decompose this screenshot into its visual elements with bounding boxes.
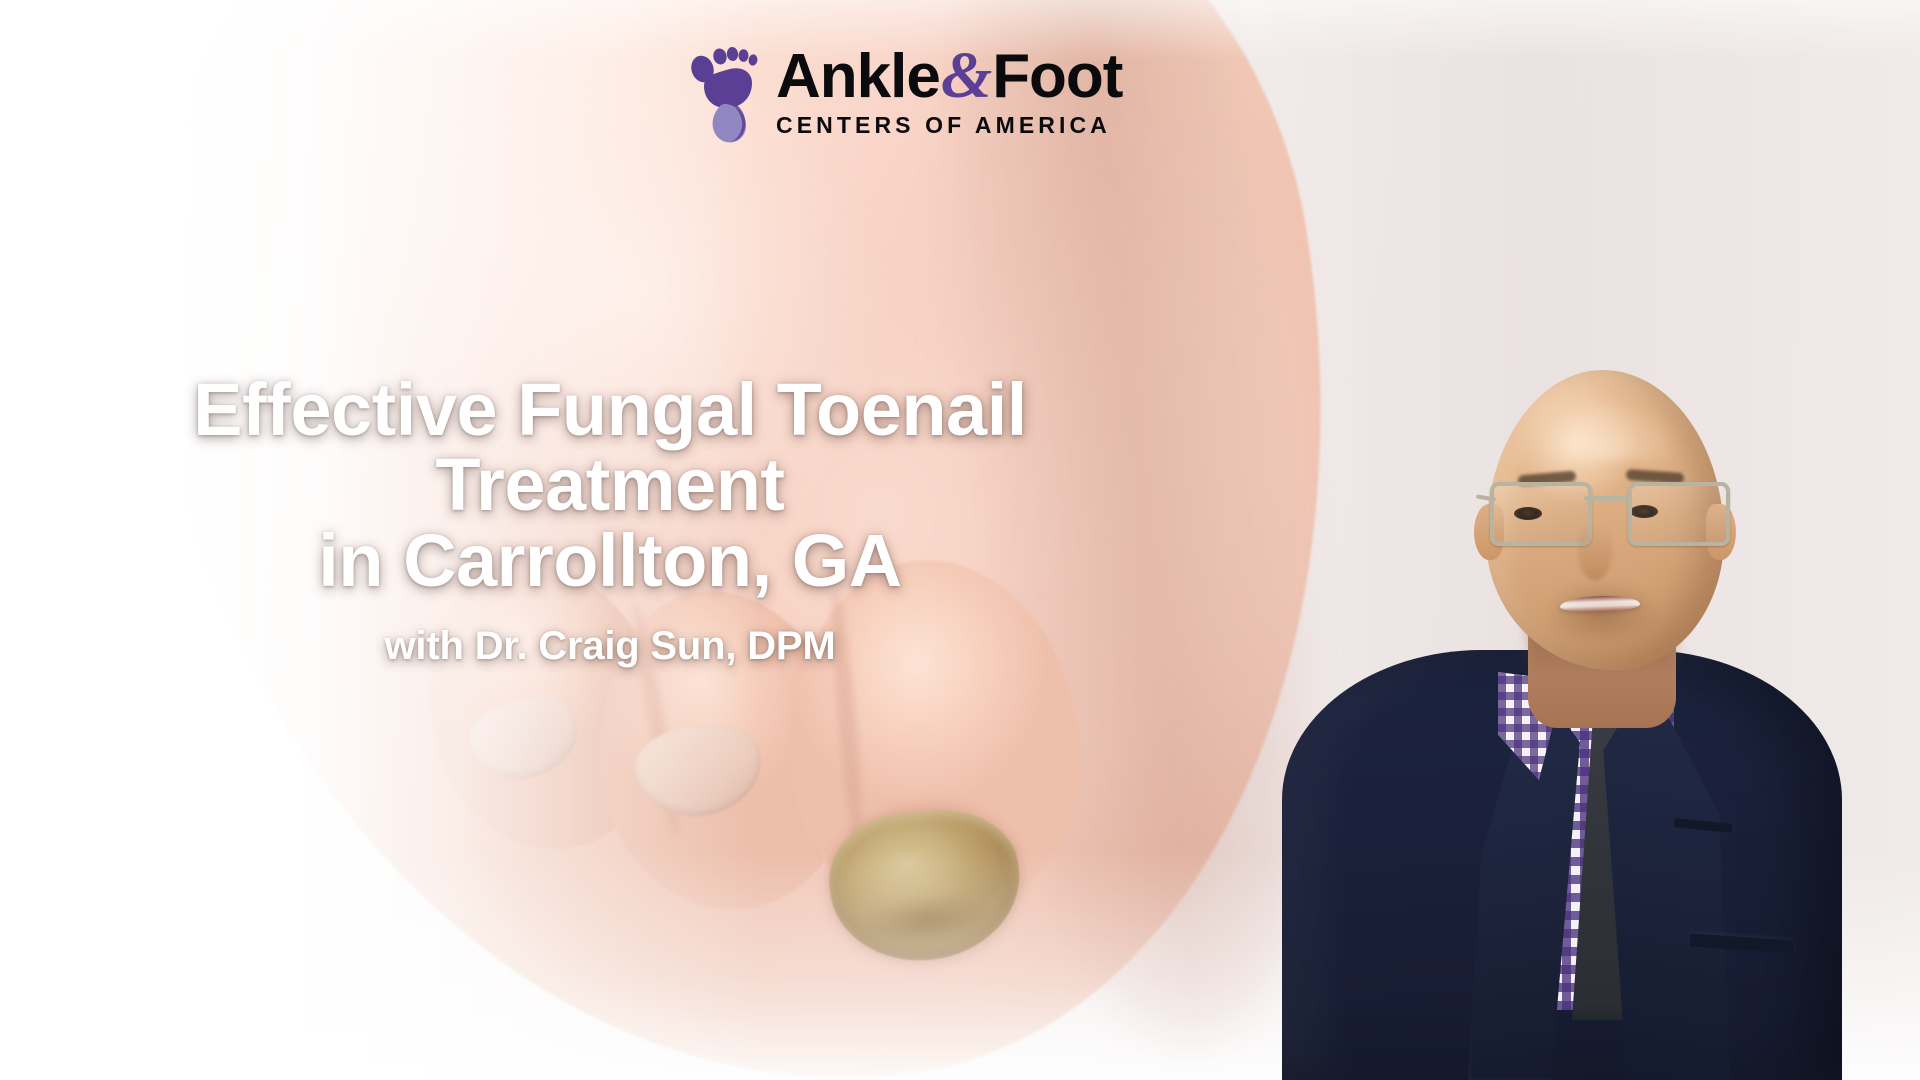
logo-word-foot: Foot [992, 42, 1122, 111]
purple-footprint-icon [690, 42, 762, 146]
lens-right [1628, 482, 1730, 546]
bald-scalp-highlight [1504, 360, 1708, 460]
chin-shading [1532, 594, 1672, 656]
glasses-bridge [1584, 496, 1628, 501]
brand-logo[interactable]: Ankle&Foot CENTERS OF AMERICA [690, 38, 1290, 156]
page-title: Effective Fungal Toenail Treatment in Ca… [110, 372, 1110, 598]
logo-word-ankle: Ankle [776, 42, 940, 111]
headline-line-1: Effective Fungal Toenail [110, 372, 1110, 447]
logo-wordmark: Ankle&Foot CENTERS OF AMERICA [776, 38, 1122, 139]
doctor-portrait [1282, 150, 1842, 1080]
headline-line-3: in Carrollton, GA [110, 523, 1110, 598]
logo-title-row: Ankle&Foot [776, 44, 1122, 107]
hero-banner: Ankle&Foot CENTERS OF AMERICA Effective … [0, 0, 1920, 1080]
headline-line-2: Treatment [110, 447, 1110, 522]
logo-ampersand: & [940, 39, 992, 112]
hero-copy: Effective Fungal Toenail Treatment in Ca… [110, 372, 1110, 669]
hero-subhead: with Dr. Craig Sun, DPM [110, 624, 1110, 669]
logo-tagline: CENTERS OF AMERICA [776, 112, 1122, 139]
lens-left [1490, 482, 1592, 546]
